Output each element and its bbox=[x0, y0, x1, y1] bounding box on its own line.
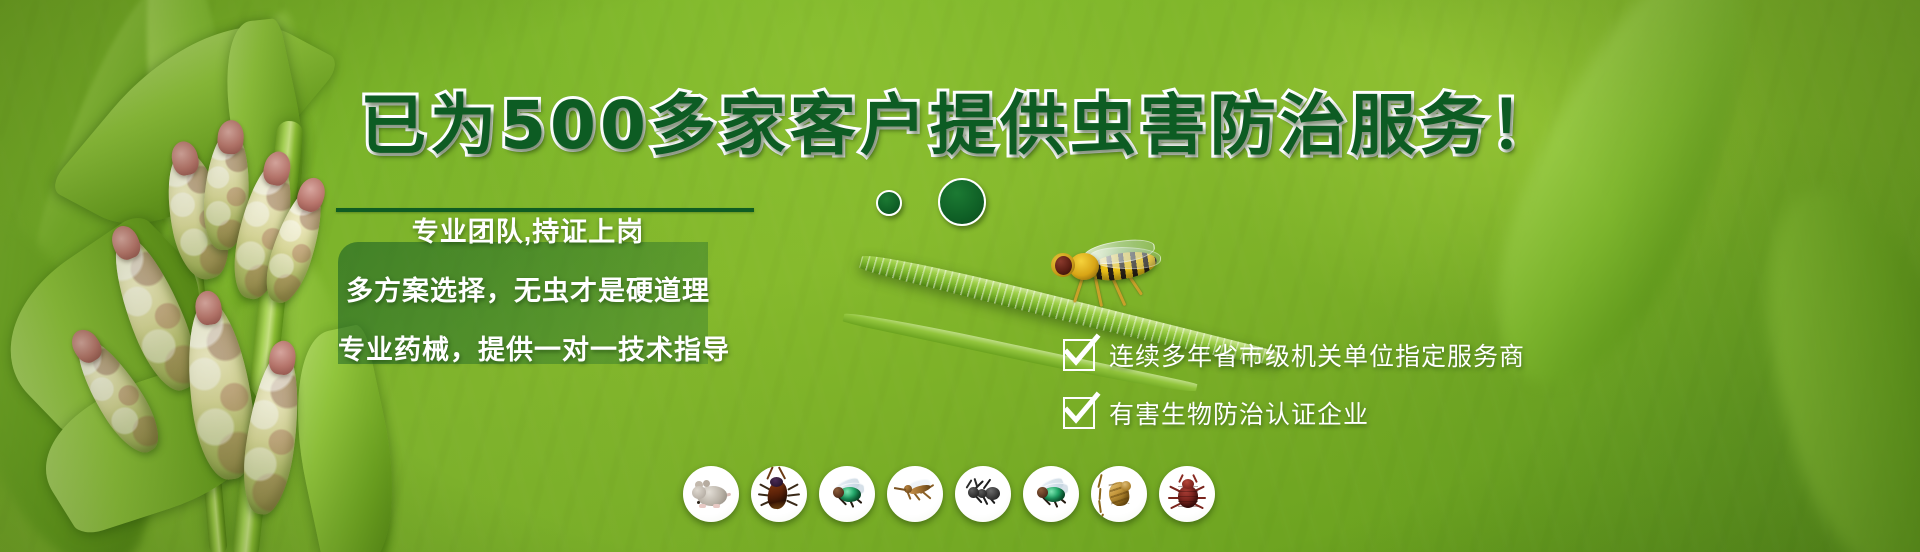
seed-pod bbox=[226, 157, 302, 304]
flea-icon[interactable] bbox=[1091, 466, 1147, 522]
copy-line-3: 专业药械，提供一对一技术指导 bbox=[338, 328, 718, 367]
bedbug-icon[interactable] bbox=[1159, 466, 1215, 522]
seed-pod bbox=[257, 182, 332, 308]
seed-pod bbox=[99, 226, 209, 398]
cockroach-icon[interactable] bbox=[751, 466, 807, 522]
plant-stem bbox=[232, 120, 304, 552]
large-dot bbox=[938, 178, 986, 226]
page-title-text: 已为500多家客户提供虫害防治服务！ bbox=[360, 87, 1560, 164]
checkbox-check-icon bbox=[1063, 397, 1095, 429]
checklist: 连续多年省市级机关单位指定服务商 有害生物防治认证企业 bbox=[1063, 337, 1525, 453]
pest-icon-strip bbox=[683, 466, 1215, 522]
fly-icon-2[interactable] bbox=[1023, 466, 1079, 522]
checklist-item-label: 连续多年省市级机关单位指定服务商 bbox=[1109, 337, 1525, 373]
fly-icon[interactable] bbox=[819, 466, 875, 522]
seed-pod bbox=[237, 347, 307, 517]
copy-line-1: 专业团队,持证上岗 bbox=[338, 210, 718, 249]
plant-leaf bbox=[10, 353, 300, 538]
plant-stem bbox=[180, 215, 228, 552]
seed-pod bbox=[178, 297, 262, 484]
small-dot bbox=[876, 190, 902, 216]
plant-leaf bbox=[0, 212, 245, 439]
copy-panel: 专业团队,持证上岗 多方案选择，无虫才是硬道理 专业药械，提供一对一技术指导 bbox=[338, 210, 718, 367]
rat-icon[interactable] bbox=[683, 466, 739, 522]
checklist-item: 连续多年省市级机关单位指定服务商 bbox=[1063, 337, 1525, 373]
checklist-item: 有害生物防治认证企业 bbox=[1063, 395, 1525, 431]
page-title: 已为500多家客户提供虫害防治服务！ bbox=[0, 72, 1920, 168]
pest-control-hero-banner: 已为500多家客户提供虫害防治服务！ 专业团队,持证上岗 多方案选择，无虫才是硬… bbox=[0, 0, 1920, 552]
ant-icon[interactable] bbox=[955, 466, 1011, 522]
checkbox-check-icon bbox=[1063, 339, 1095, 371]
background-leaf-blade bbox=[0, 0, 242, 388]
copy-line-2: 多方案选择，无虫才是硬道理 bbox=[338, 269, 718, 308]
mosquito-icon[interactable] bbox=[887, 466, 943, 522]
background-leaf-blade bbox=[0, 186, 186, 552]
checklist-item-label: 有害生物防治认证企业 bbox=[1109, 395, 1369, 431]
seed-pod bbox=[64, 328, 170, 462]
hoverfly-icon bbox=[1045, 245, 1165, 309]
background-leaf-blade bbox=[1720, 161, 1920, 552]
